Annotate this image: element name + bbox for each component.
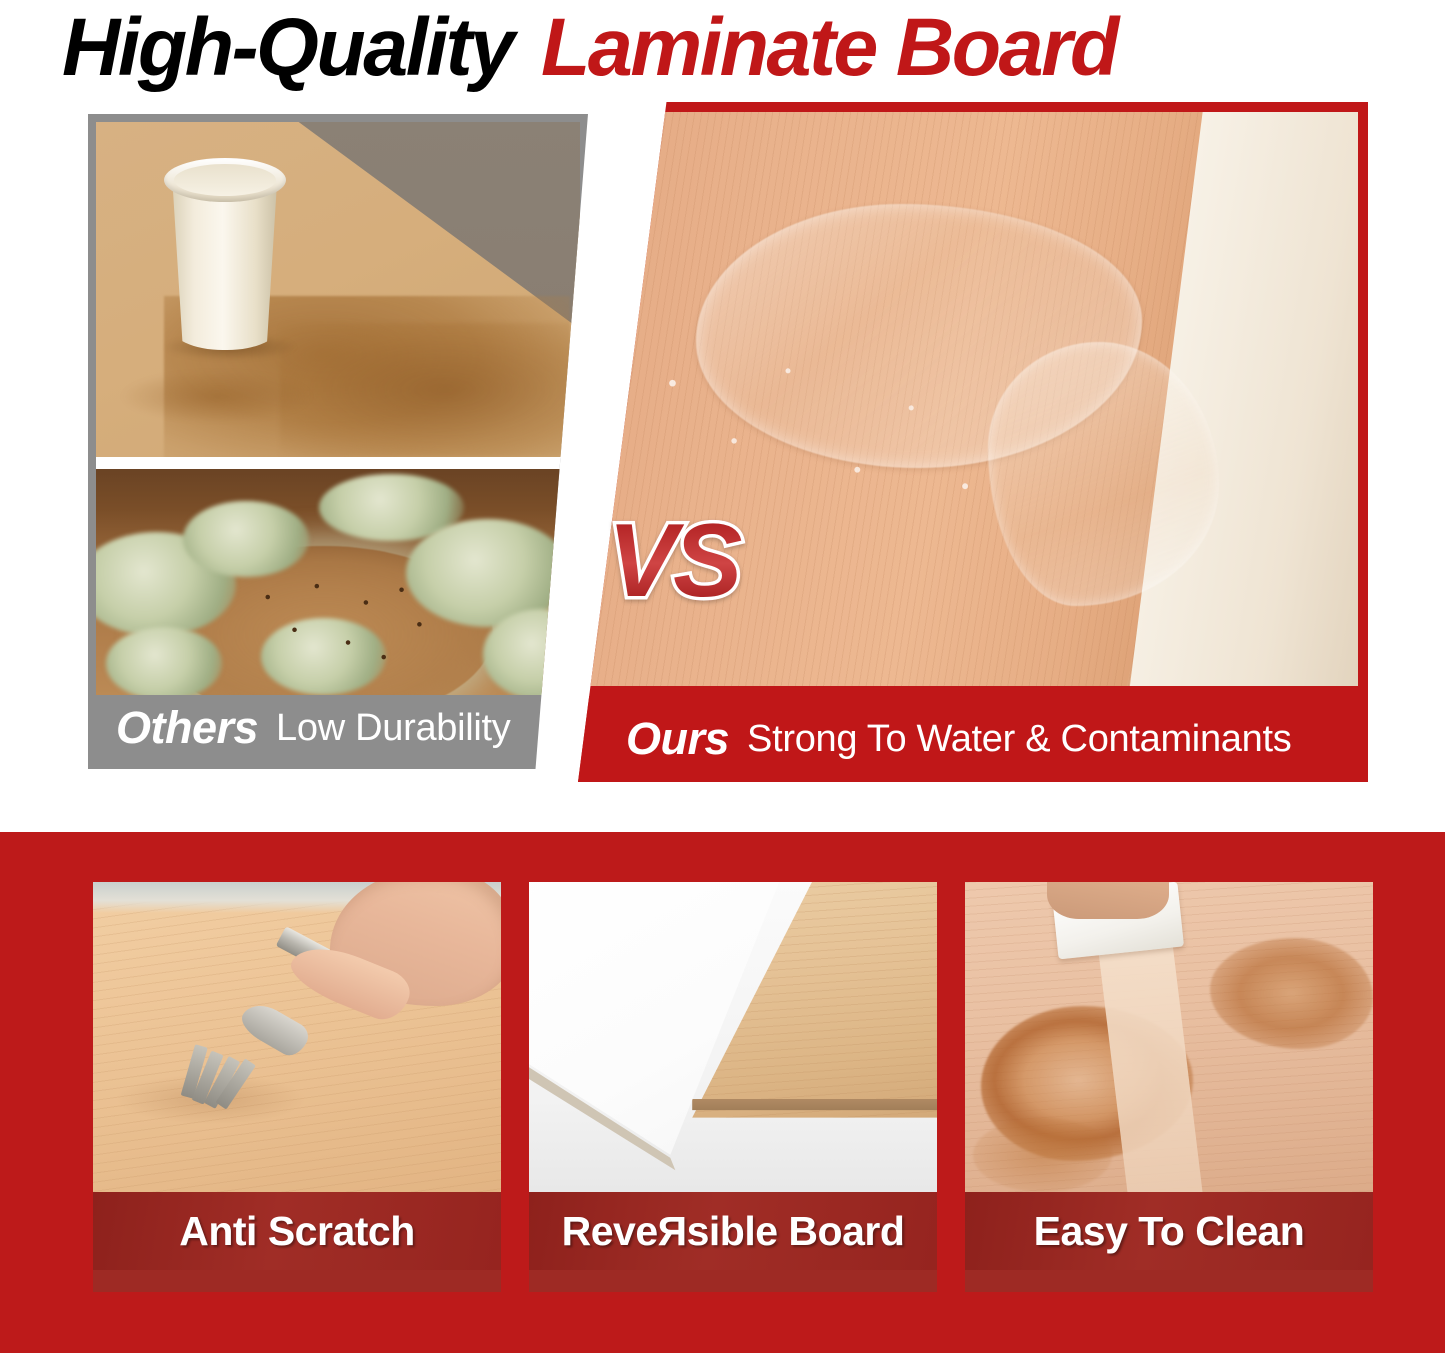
feature-label-easy-to-clean: Easy To Clean	[965, 1192, 1373, 1270]
ours-panel: Ours Strong To Water & Contaminants	[578, 102, 1368, 782]
others-caption: Others Low Durability	[88, 687, 588, 769]
cup-inner	[174, 164, 276, 196]
feature-card-anti-scratch[interactable]: Anti Scratch	[88, 877, 506, 1297]
reversible-board-photo	[529, 882, 937, 1192]
page-title-part-2: Laminate Board	[541, 7, 1117, 89]
ours-caption: Ours Strong To Water & Contaminants	[578, 696, 1368, 782]
mould-patch	[183, 501, 309, 578]
features-section: Anti Scratch ReveЯsible Board	[0, 832, 1445, 1353]
others-subtitle: Low Durability	[276, 707, 510, 750]
feature-card-reversible-board[interactable]: ReveЯsible Board	[524, 877, 942, 1297]
mould-growth-on-board-photo	[96, 469, 580, 695]
others-title: Others	[116, 702, 258, 754]
sauce-stain	[973, 1118, 1112, 1192]
comparison-section: Others Low Durability Ours Strong To Wat…	[0, 94, 1445, 794]
others-panel: Others Low Durability	[88, 114, 588, 769]
feature-card-easy-to-clean[interactable]: Easy To Clean	[960, 877, 1378, 1297]
feature-row: Anti Scratch ReveЯsible Board	[88, 877, 1378, 1297]
ours-subtitle: Strong To Water & Contaminants	[747, 718, 1291, 761]
hand	[1047, 882, 1169, 919]
feature-label-reversible-board: ReveЯsible Board	[529, 1192, 937, 1270]
wipe-clean-test-photo	[965, 882, 1373, 1192]
others-photo-stack	[96, 122, 580, 695]
cup-spill-on-particle-board-photo	[96, 122, 580, 457]
paper-cup	[164, 152, 286, 352]
spill-stain-dark	[280, 323, 580, 457]
spill-streak	[120, 370, 314, 424]
mould-patch	[106, 627, 222, 695]
mould-specks	[241, 577, 464, 667]
page-title: High-Quality Laminate Board	[62, 2, 1442, 94]
page-title-part-1: High-Quality	[62, 7, 513, 89]
fork-scratch-test-photo	[93, 882, 501, 1192]
ours-title: Ours	[626, 713, 729, 765]
vs-badge-outline: VS	[578, 506, 768, 616]
photo-divider	[96, 457, 580, 469]
feature-label-anti-scratch: Anti Scratch	[93, 1192, 501, 1270]
